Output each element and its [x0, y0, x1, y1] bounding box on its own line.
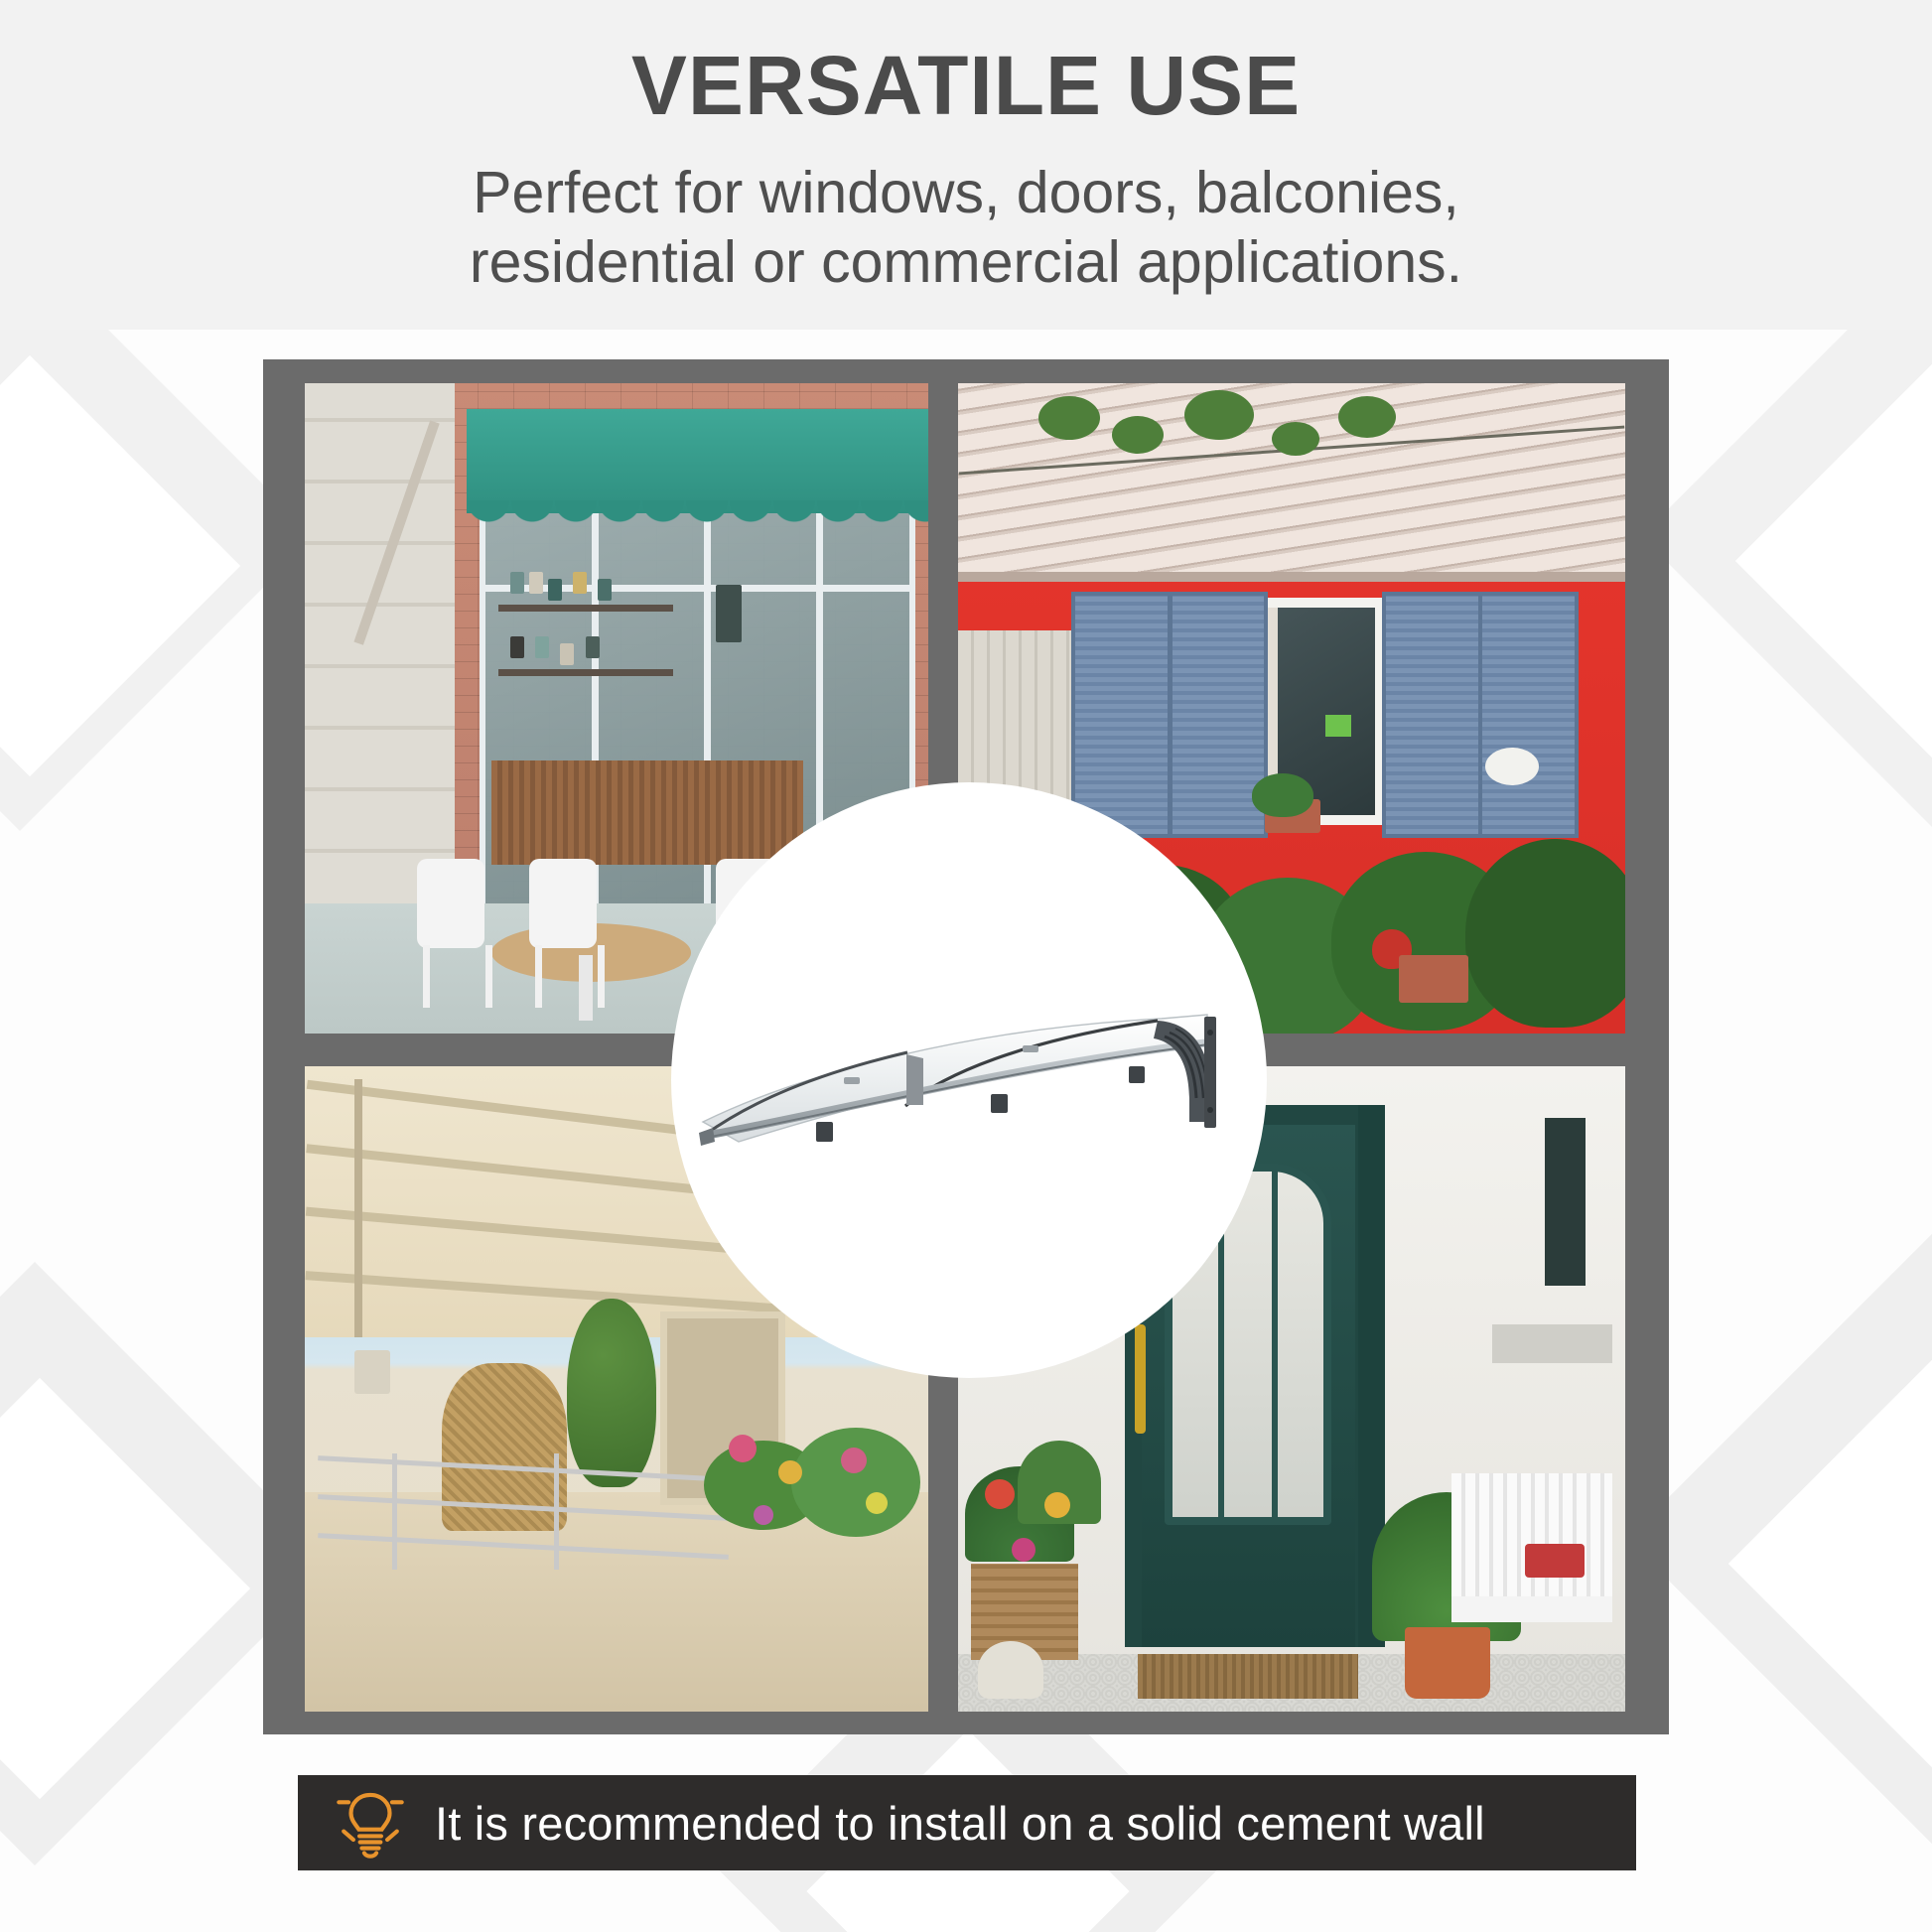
installation-tip-banner: It is recommended to install on a solid …: [298, 1775, 1636, 1870]
page-subtitle: Perfect for windows, doors, balconies, r…: [0, 159, 1932, 297]
page-title: VERSATILE USE: [0, 42, 1932, 129]
watermark-chevron-bottom-left-inner: [0, 1378, 250, 1799]
subtitle-line-1: Perfect for windows, doors, balconies,: [0, 159, 1932, 228]
infographic-page: VERSATILE USE Perfect for windows, doors…: [0, 0, 1932, 1932]
product-image-door-canopy: [695, 1003, 1251, 1157]
header-band: VERSATILE USE Perfect for windows, doors…: [0, 0, 1932, 330]
subtitle-line-2: residential or commercial applications.: [0, 228, 1932, 298]
watermark-chevron-top-left-inner: [0, 355, 240, 776]
watermark-chevron-top-right-inner: [1735, 350, 1932, 771]
lightbulb-icon: [328, 1780, 413, 1865]
watermark-chevron-bottom-right-inner: [1728, 1346, 1932, 1781]
installation-tip-text: It is recommended to install on a solid …: [435, 1796, 1485, 1851]
watermark-chevron-top-right: [1641, 241, 1932, 831]
watermark-chevron-bottom-right: [1627, 1230, 1932, 1848]
